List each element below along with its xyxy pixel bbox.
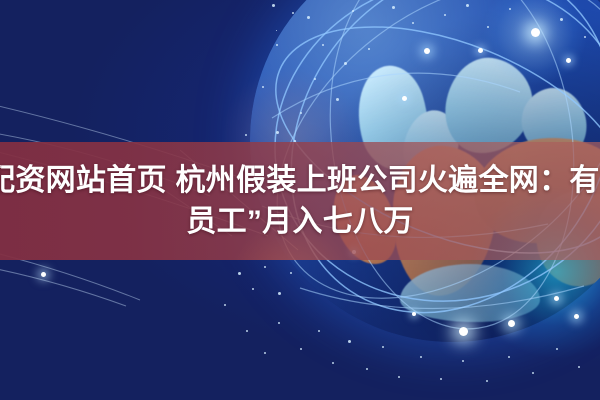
headline-line-2: 员工”月入七八万	[186, 201, 413, 242]
node-lower-d	[574, 314, 579, 319]
article-banner-image: 配资网站首页 杭州假装上班公司火遍全网：有“ 员工”月入七八万	[0, 0, 600, 400]
node-left-edge	[41, 272, 46, 277]
headline-line-1: 配资网站首页 杭州假装上班公司火遍全网：有“	[0, 160, 600, 201]
headline-text: 配资网站首页 杭州假装上班公司火遍全网：有“ 员工”月入七八万	[0, 142, 600, 260]
